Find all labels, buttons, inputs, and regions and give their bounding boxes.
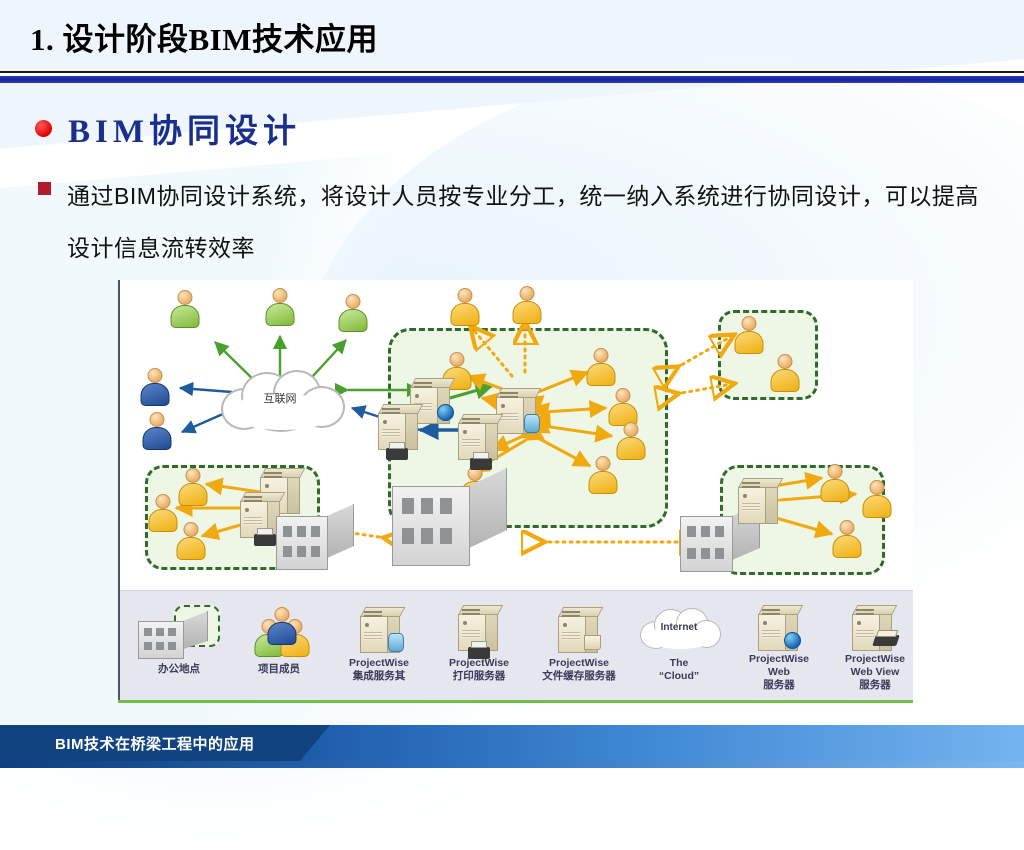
person-amber: [512, 286, 542, 324]
person-amber: [148, 494, 178, 532]
legend-label: ProjectWise Web 服务器: [724, 653, 834, 692]
internet-cloud-icon: Internet: [624, 601, 734, 659]
legend-label: ProjectWise 打印服务器: [424, 657, 534, 683]
person-amber: [734, 316, 764, 354]
legend-label: The “Cloud”: [624, 657, 734, 683]
person-amber: [820, 464, 850, 502]
person-green: [170, 290, 200, 328]
title-divider-blue: [0, 76, 1024, 83]
legend-label: 办公地点: [124, 663, 234, 676]
diagram-underline: [118, 700, 913, 703]
person-amber: [770, 354, 800, 392]
bullet-dot-icon: [35, 120, 52, 137]
projectwise-integration-server-icon: [496, 388, 536, 434]
office-building-zone-icon: [124, 601, 234, 659]
diagram-image: 互联网: [118, 280, 913, 700]
body-paragraph: 通过BIM协同设计系统，将设计人员按专业分工，统一纳入系统进行协同设计，可以提高…: [38, 170, 998, 274]
projectwise-print-server-icon: [378, 404, 418, 450]
internet-cloud-icon: 互联网: [215, 368, 345, 430]
person-amber: [176, 522, 206, 560]
footer-bottom-strip: [0, 761, 1024, 768]
legend-label: ProjectWise Web View 服务器: [820, 653, 913, 692]
person-amber: [862, 480, 892, 518]
projectwise-print-server-icon: [424, 601, 534, 659]
person-amber: [608, 388, 638, 426]
office-building-icon: [276, 504, 354, 570]
person-blue: [140, 368, 170, 406]
office-building-icon: [392, 468, 507, 566]
projectwise-file-cache-server-icon: [738, 478, 778, 524]
person-amber: [832, 520, 862, 558]
legend-label: ProjectWise 集成服务其: [324, 657, 434, 683]
diagram-canvas: 互联网: [120, 280, 913, 590]
person-amber: [178, 468, 208, 506]
footer-title: BIM技术在桥梁工程中的应用: [55, 733, 255, 754]
cloud-label: 互联网: [215, 390, 345, 406]
person-green: [265, 288, 295, 326]
diagram-legend: 办公地点 项目成员 ProjectWise 集成服务其: [120, 590, 913, 700]
projectwise-web-server-icon: [724, 601, 834, 659]
person-blue: [142, 412, 172, 450]
person-amber: [588, 456, 618, 494]
projectwise-web-view-server-icon: [820, 601, 913, 659]
slide-footer: BIM技术在桥梁工程中的应用: [0, 725, 1024, 761]
legend-label: ProjectWise 文件缓存服务器: [524, 657, 634, 683]
projectwise-file-cache-server-icon: [240, 492, 280, 538]
bullet-square-icon: [38, 182, 51, 195]
legend-label: 项目成员: [224, 663, 334, 676]
person-green: [338, 294, 368, 332]
heading-label: BIM协同设计: [68, 104, 301, 152]
diagram-arrows: [120, 280, 913, 590]
person-amber: [616, 422, 646, 460]
body-paragraph-text: 通过BIM协同设计系统，将设计人员按专业分工，统一纳入系统进行协同设计，可以提高…: [67, 170, 987, 274]
person-amber: [450, 288, 480, 326]
cloud-inner-label: Internet: [638, 622, 720, 633]
projectwise-integration-server-icon: [324, 601, 434, 659]
page-title: 1. 设计阶段BIM技术应用: [30, 14, 378, 59]
projectwise-file-cache-server-icon: [524, 601, 634, 659]
projectwise-file-cache-server-icon: [458, 414, 498, 460]
person-amber: [586, 348, 616, 386]
heading-bim-collaborative-design: BIM协同设计: [35, 104, 301, 152]
project-members-people-icon: [224, 601, 334, 659]
